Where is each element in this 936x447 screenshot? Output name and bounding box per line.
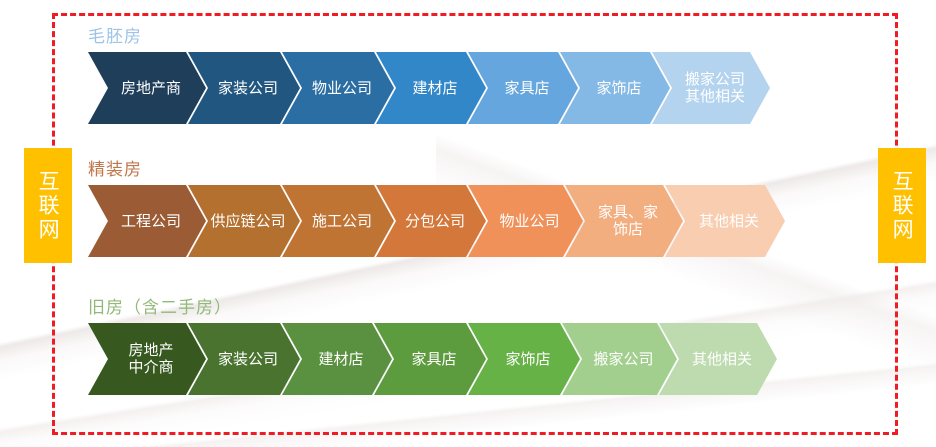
chevron-step-label: 供应链公司 (196, 213, 291, 230)
chevron-step-label: 家装公司 (204, 351, 284, 368)
chevron-step-label: 其他相关 (678, 351, 758, 368)
chevron-step-label: 家具、家 饰店 (584, 204, 664, 238)
chevron-step-label: 家饰店 (582, 80, 647, 97)
chevron-step-label: 搬家公司 其他相关 (671, 71, 751, 105)
row-title-jiufang: 旧房（含二手房） (88, 293, 232, 318)
chevron-step-label: 分包公司 (391, 213, 471, 230)
chevron-step-label: 物业公司 (485, 213, 565, 230)
chevron-step-label: 工程公司 (107, 213, 187, 230)
row-title-maopifang: 毛胚房 (88, 22, 142, 47)
internet-badge-left: 互联网 (24, 148, 72, 263)
chevron-step-label: 建材店 (304, 351, 369, 368)
chevron-step-label: 家饰店 (491, 351, 556, 368)
chevron-step-label: 施工公司 (298, 213, 378, 230)
internet-badge-left-label: 互联网 (36, 170, 60, 242)
chevron-step-label: 搬家公司 (579, 351, 659, 368)
chevron-step-label: 其他相关 (685, 213, 765, 230)
slide-canvas: 互联网 互联网 毛胚房 房地产商家装公司物业公司建材店家具店家饰店搬家公司 其他… (0, 0, 936, 447)
internet-badge-right: 互联网 (878, 148, 926, 263)
row-title-jingzhuangfang: 精装房 (88, 155, 142, 180)
chevron-step-label: 房地产 中介商 (114, 342, 179, 376)
internet-badge-right-label: 互联网 (890, 170, 914, 242)
chevron-step-label: 家具店 (490, 80, 555, 97)
chevron-step-label: 房地产商 (107, 80, 187, 97)
chevron-step-label: 物业公司 (298, 80, 378, 97)
chevron-step-label: 建材店 (398, 80, 463, 97)
chevron-step-label: 家装公司 (204, 80, 284, 97)
chevron-step-label: 家具店 (397, 351, 462, 368)
